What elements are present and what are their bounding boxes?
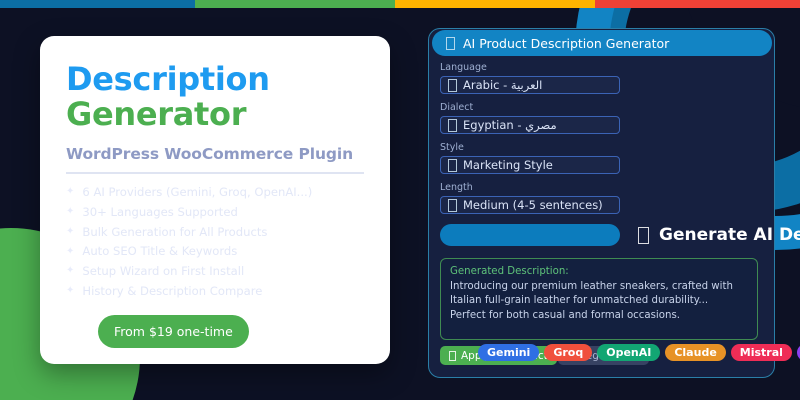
form-field: StyleMarketing Style [440,142,770,174]
missing-glyph-box-icon [448,119,457,132]
field-label: Dialect [440,102,770,113]
generate-row[interactable]: Generate AI Des [440,222,770,254]
divider [66,172,364,174]
provider-chip-claude[interactable]: Claude [665,344,725,361]
generate-label-text: Generate AI Des [659,225,800,245]
select-length[interactable]: Medium (4-5 sentences) [440,196,620,214]
field-value: Marketing Style [463,158,553,172]
description-line: Perfect for both casual and formal occas… [450,309,748,323]
app-panel-title: AI Product Description Generator [463,36,669,51]
promo-card: Description Generator WordPress WooComme… [40,36,390,364]
form-field: LanguageArabic - العربية [440,62,770,94]
missing-glyph-box-icon [449,351,456,361]
feature-item: ✦Auto SEO Title & Keywords [66,245,364,258]
feature-item: ✦Setup Wizard on First Install [66,265,364,278]
sparkle-icon: ✦ [66,266,74,276]
form-field: LengthMedium (4-5 sentences) [440,182,770,214]
feature-item: ✦30+ Languages Supported [66,206,364,219]
feature-item-label: Bulk Generation for All Products [82,226,267,239]
feature-item-label: 6 AI Providers (Gemini, Groq, OpenAI...) [82,186,312,199]
sparkle-icon: ✦ [66,247,74,257]
feature-item-label: 30+ Languages Supported [82,206,237,219]
screenshot-stage: Description Generator WordPress WooComme… [0,0,800,400]
provider-chip-mistral[interactable]: Mistral [731,344,792,361]
page-subtitle: WordPress WooCommerce Plugin [66,145,364,163]
promo-card-content: Description Generator WordPress WooComme… [40,36,390,298]
provider-chip-openai[interactable]: OpenAI [597,344,660,361]
field-label: Style [440,142,770,153]
sparkle-icon: ✦ [66,227,74,237]
price-badge: From $19 one-time [98,315,249,348]
missing-glyph-box-icon [448,159,457,172]
feature-item: ✦History & Description Compare [66,285,364,298]
sparkle-icon: ✦ [66,187,74,197]
field-label: Language [440,62,770,73]
generated-description-text: Introducing our premium leather sneakers… [450,280,748,323]
description-line: Introducing our premium leather sneakers… [450,280,748,294]
sparkle-icon: ✦ [66,207,74,217]
feature-list: ✦6 AI Providers (Gemini, Groq, OpenAI...… [66,186,364,298]
missing-glyph-box-icon [448,199,457,212]
select-language[interactable]: Arabic - العربية [440,76,620,94]
top-color-strip [0,0,800,8]
select-style[interactable]: Marketing Style [440,156,620,174]
strip-segment-red [595,0,800,8]
field-value: Egyptian - مصري [463,118,557,132]
strip-segment-blue [0,0,195,8]
app-panel-header: AI Product Description Generator [432,30,772,56]
feature-item-label: Setup Wizard on First Install [82,265,244,278]
title-line-1: Description [66,62,364,97]
page-title: Description Generator [66,62,364,131]
title-line-2: Generator [66,97,364,132]
feature-item: ✦6 AI Providers (Gemini, Groq, OpenAI...… [66,186,364,199]
generated-description-box[interactable]: Generated Description: Introducing our p… [440,258,758,340]
field-value: Arabic - العربية [463,78,542,92]
field-label: Length [440,182,770,193]
missing-glyph-box-icon [446,37,455,50]
strip-segment-yellow [395,0,595,8]
form-fields: LanguageArabic - العربيةDialectEgyptian … [440,62,770,214]
generated-description-title: Generated Description: [450,266,748,277]
generate-button-label-overflow: Generate AI Des [638,222,800,248]
feature-item-label: History & Description Compare [82,285,262,298]
strip-segment-green [195,0,395,8]
description-line: Italian full-grain leather for unmatched… [450,294,748,308]
provider-chip-row: GeminiGroqOpenAIClaudeMistralCohere [478,344,800,361]
provider-chip-groq[interactable]: Groq [544,344,592,361]
select-dialect[interactable]: Egyptian - مصري [440,116,620,134]
generate-button[interactable] [440,224,620,246]
provider-chip-gemini[interactable]: Gemini [478,344,539,361]
field-value: Medium (4-5 sentences) [463,198,603,212]
feature-item-label: Auto SEO Title & Keywords [82,245,237,258]
sparkle-icon: ✦ [66,286,74,296]
missing-glyph-box-icon [638,227,649,244]
feature-item: ✦Bulk Generation for All Products [66,226,364,239]
form-field: DialectEgyptian - مصري [440,102,770,134]
app-panel-body: LanguageArabic - العربيةDialectEgyptian … [440,62,770,370]
missing-glyph-box-icon [448,79,457,92]
